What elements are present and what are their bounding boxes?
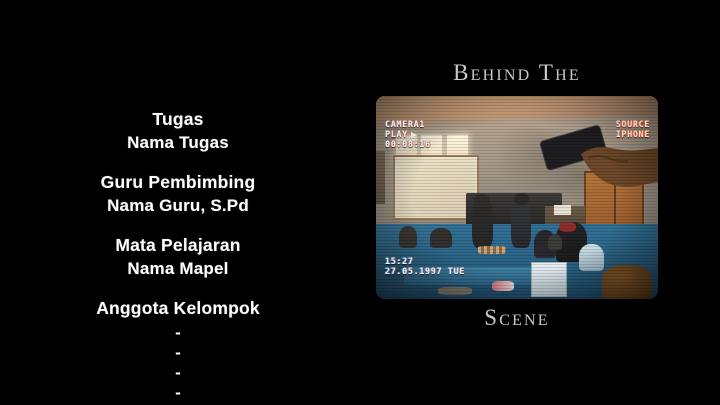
list-item: - — [0, 383, 356, 403]
play-triangle-icon — [411, 132, 417, 138]
credit-value: Nama Tugas — [0, 131, 356, 154]
osd-transport-label: PLAY — [385, 130, 408, 140]
osd-transport-row: PLAY — [385, 130, 431, 140]
credit-value: Nama Guru, S.Pd — [0, 194, 356, 217]
video-credits-slide: Tugas Nama Tugas Guru Pembimbing Nama Gu… — [0, 0, 720, 405]
member-list: - - - - — [0, 323, 356, 403]
osd-camera-label: CAMERA1 — [385, 120, 431, 130]
credit-heading: Anggota Kelompok — [0, 297, 356, 320]
credit-heading: Mata Pelajaran — [0, 234, 356, 257]
credit-heading: Tugas — [0, 108, 356, 131]
title-top: Behind The — [375, 60, 659, 86]
credit-block-tugas: Tugas Nama Tugas — [0, 108, 356, 154]
list-item: - — [0, 343, 356, 363]
credit-block-guru-pembimbing: Guru Pembimbing Nama Guru, S.Pd — [0, 171, 356, 217]
credit-heading: Guru Pembimbing — [0, 171, 356, 194]
osd-clock-time: 15:27 — [385, 257, 465, 267]
credits-column: Tugas Nama Tugas Guru Pembimbing Nama Gu… — [0, 108, 356, 405]
credit-value: Nama Mapel — [0, 257, 356, 280]
osd-timecode: 00:08:16 — [385, 140, 431, 150]
video-frame[interactable]: CAMERA1 PLAY 00:08:16 SOURCE IPHONE 15:2… — [376, 96, 658, 299]
credit-block-mata-pelajaran: Mata Pelajaran Nama Mapel — [0, 234, 356, 280]
osd-camera-status: CAMERA1 PLAY 00:08:16 — [385, 120, 431, 150]
osd-source: SOURCE IPHONE — [616, 120, 650, 140]
osd-clock: 15:27 27.05.1997 TUE — [385, 257, 465, 277]
list-item: - — [0, 363, 356, 383]
osd-source-value: IPHONE — [616, 130, 650, 140]
title-bottom: Scene — [375, 305, 659, 331]
osd-source-label: SOURCE — [616, 120, 650, 130]
osd-clock-date: 27.05.1997 TUE — [385, 267, 465, 277]
list-item: - — [0, 323, 356, 343]
credit-block-anggota-kelompok: Anggota Kelompok - - - - — [0, 297, 356, 403]
